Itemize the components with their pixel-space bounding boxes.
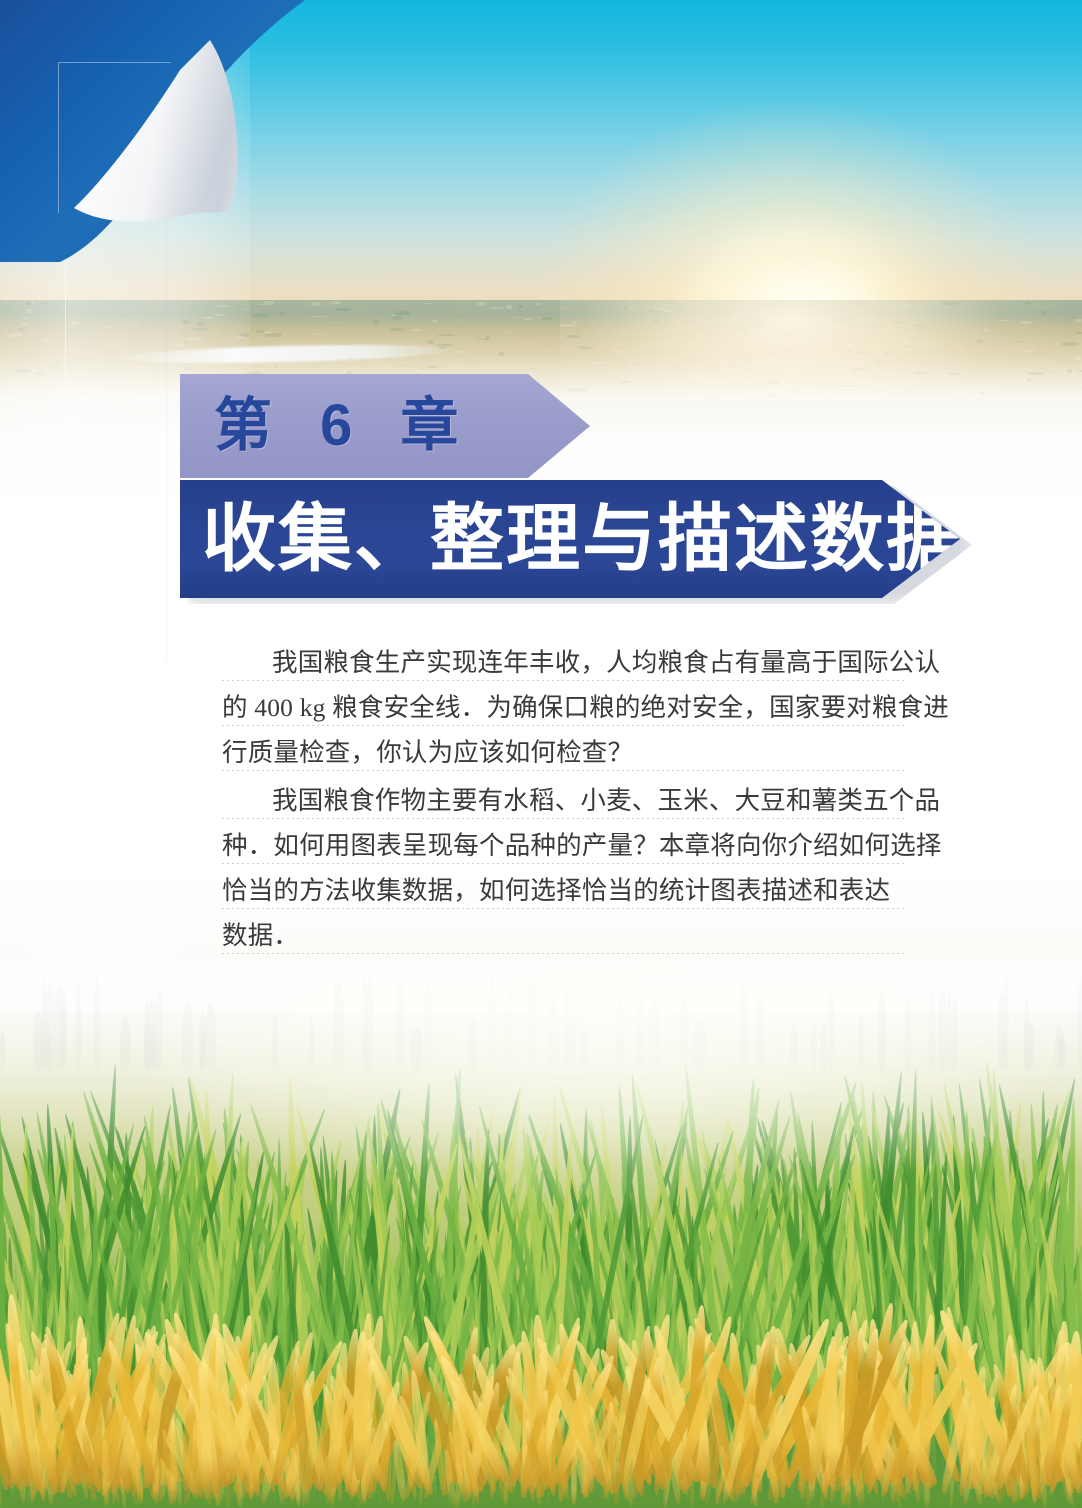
chapter-title-banner: 收集、整理与描述数据 — [180, 480, 960, 598]
chapter-number-banner: 第 6 章 — [180, 374, 590, 478]
text-line: 种．如何用图表呈现每个品种的产量？本章将向你介绍如何选择 — [222, 823, 906, 868]
text-line: 数据． — [222, 913, 906, 958]
page-curl-decoration — [0, 0, 330, 270]
intro-paragraph-2: 我国粮食作物主要有水稻、小麦、玉米、大豆和薯类五个品 种．如何用图表呈现每个品种… — [222, 778, 906, 958]
chapter-opener-page: 第 6 章 收集、整理与描述数据 我国粮食生产实现连年丰收，人均粮食占有量高于国… — [0, 0, 1082, 1508]
text-line: 我国粮食生产实现连年丰收，人均粮食占有量高于国际公认 — [222, 640, 906, 685]
text-line: 的 400 kg 粮食安全线．为确保口粮的绝对安全，国家要对粮食进 — [222, 685, 906, 730]
field-backlight-glow — [0, 960, 1082, 1290]
chapter-number-label: 第 6 章 — [214, 397, 475, 455]
intro-paragraph-1: 我国粮食生产实现连年丰收，人均粮食占有量高于国际公认 的 400 kg 粮食安全… — [222, 640, 906, 775]
rice-paddy-photo — [0, 960, 1082, 1508]
text-line: 我国粮食作物主要有水稻、小麦、玉米、大豆和薯类五个品 — [222, 778, 906, 823]
chapter-banner-group: 第 6 章 收集、整理与描述数据 — [180, 374, 970, 610]
text-line: 行质量检查，你认为应该如何检查？ — [222, 730, 906, 775]
text-line: 恰当的方法收集数据，如何选择恰当的统计图表描述和表达 — [222, 868, 906, 913]
chapter-title-text: 收集、整理与描述数据 — [202, 502, 962, 576]
intro-text-block: 我国粮食生产实现连年丰收，人均粮食占有量高于国际公认 的 400 kg 粮食安全… — [222, 640, 906, 961]
